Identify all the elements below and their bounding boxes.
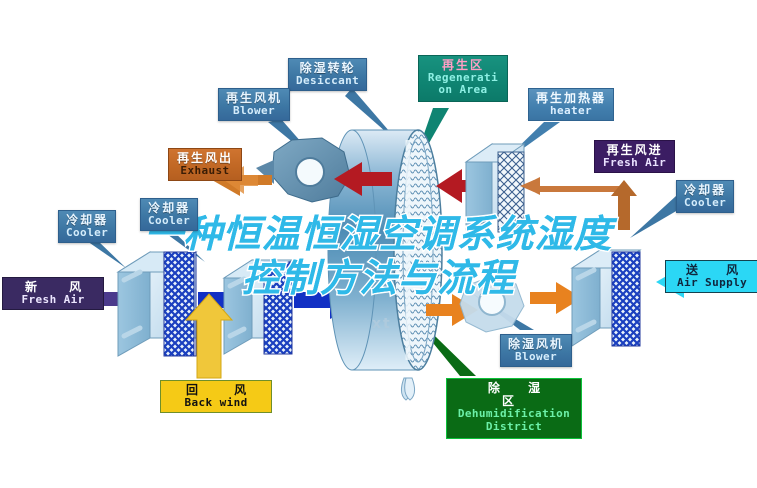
label-exhaust-en: Exhaust: [177, 165, 233, 177]
label-exhaust-cn: 再生风出: [177, 152, 233, 165]
label-cooler-right[interactable]: 冷却器 Cooler: [676, 180, 734, 213]
label-dehumidify-blower-en: Blower: [508, 351, 564, 363]
label-regeneration-heater-en: heater: [536, 105, 606, 117]
label-cooler-right-cn: 冷却器: [684, 184, 726, 197]
label-regeneration-blower[interactable]: 再生风机 Blower: [218, 88, 290, 121]
label-fresh-air-main[interactable]: 新 风 Fresh Air: [2, 277, 104, 310]
label-dehumidification-area-en: Dehumidification District: [456, 407, 572, 433]
label-regeneration-blower-en: Blower: [226, 105, 282, 117]
diagram-canvas: xt: [0, 0, 757, 488]
label-cooler-left-2-en: Cooler: [148, 215, 190, 227]
label-regeneration-area-cn: 再生区: [427, 59, 499, 72]
label-regeneration-area-en: Regenerati on Area: [427, 72, 499, 97]
label-cooler-left-1[interactable]: 冷却器 Cooler: [58, 210, 116, 243]
regen-heat-arrow: [522, 177, 626, 195]
svg-text:xt: xt: [372, 316, 392, 332]
label-regeneration-heater-cn: 再生加热器: [536, 92, 606, 105]
label-cooler-left-2-cn: 冷却器: [148, 202, 190, 215]
label-cooler-left-2[interactable]: 冷却器 Cooler: [140, 198, 198, 231]
label-fresh-air-main-en: Fresh Air: [11, 294, 95, 306]
label-fresh-air-regen[interactable]: 再生风进 Fresh Air: [594, 140, 675, 173]
label-desiccant-wheel-cn: 除湿转轮: [296, 62, 359, 75]
label-dehumidification-area[interactable]: 除 湿 区 Dehumidification District: [446, 378, 582, 439]
label-back-wind-cn: 回 风: [170, 384, 262, 397]
label-cooler-right-en: Cooler: [684, 197, 726, 209]
label-regeneration-heater[interactable]: 再生加热器 heater: [528, 88, 614, 121]
label-cooler-left-1-cn: 冷却器: [66, 214, 108, 227]
label-desiccant-wheel-en: Desiccant: [296, 75, 359, 87]
label-air-supply-en: Air Supply: [674, 277, 750, 289]
page-title-line2: 控制方法与流程: [0, 256, 757, 300]
label-air-supply-cn: 送 风: [674, 264, 750, 277]
label-fresh-air-main-cn: 新 风: [11, 281, 95, 294]
label-dehumidification-area-cn: 除 湿 区: [456, 382, 572, 407]
label-air-supply[interactable]: 送 风 Air Supply: [665, 260, 757, 293]
label-regeneration-blower-cn: 再生风机: [226, 92, 282, 105]
label-fresh-air-regen-en: Fresh Air: [603, 157, 666, 169]
regeneration-blower: [256, 138, 350, 202]
label-cooler-left-1-en: Cooler: [66, 227, 108, 239]
label-desiccant-wheel[interactable]: 除湿转轮 Desiccant: [288, 58, 367, 91]
label-regeneration-area[interactable]: 再生区 Regenerati on Area: [418, 55, 508, 102]
label-dehumidify-blower[interactable]: 除湿风机 Blower: [500, 334, 572, 367]
label-exhaust[interactable]: 再生风出 Exhaust: [168, 148, 242, 181]
label-back-wind-en: Back wind: [170, 397, 262, 409]
label-back-wind[interactable]: 回 风 Back wind: [160, 380, 272, 413]
label-dehumidify-blower-cn: 除湿风机: [508, 338, 564, 351]
label-fresh-air-regen-cn: 再生风进: [603, 144, 666, 157]
